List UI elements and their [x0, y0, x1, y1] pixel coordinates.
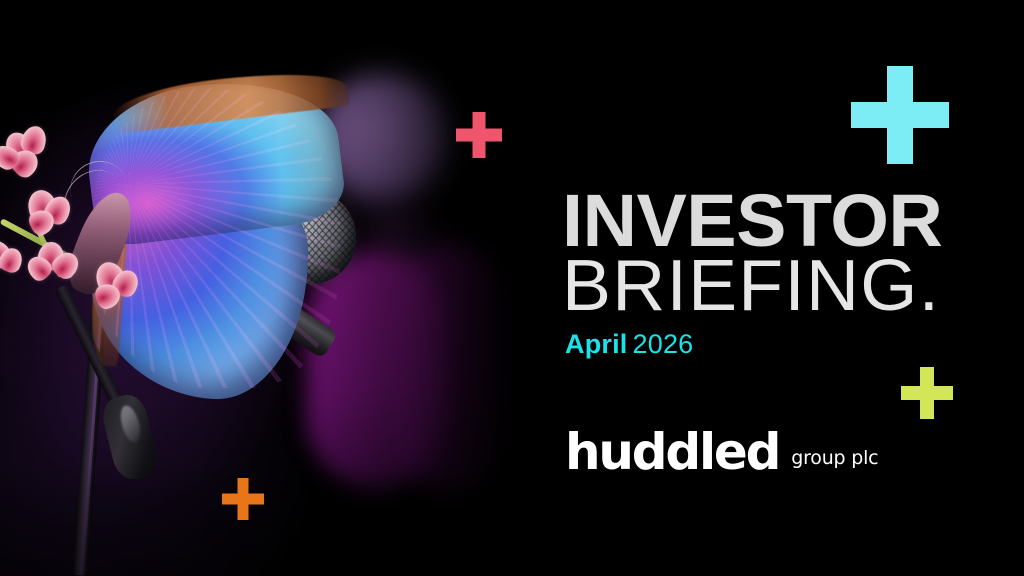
- plus-orange-icon: [222, 478, 264, 520]
- title-slide: INVESTOR BRIEFING. April2026 huddled gro…: [0, 0, 1024, 576]
- text-content: INVESTOR BRIEFING. April2026 huddled gro…: [562, 0, 1024, 576]
- date-year: 2026: [633, 329, 694, 359]
- logo-wordmark: huddled: [565, 427, 779, 477]
- brand-logo: huddled group plc: [565, 427, 878, 477]
- date-subtitle: April2026: [565, 329, 693, 360]
- butterfly: [60, 78, 360, 398]
- page-title-line2: BRIEFING.: [562, 252, 940, 320]
- page-title-line1: INVESTOR: [562, 187, 942, 255]
- plus-pink-icon: [456, 112, 502, 158]
- hero-image: [0, 0, 540, 576]
- logo-suffix: group plc: [791, 447, 878, 469]
- date-month: April: [565, 329, 628, 359]
- butterfly-wing-veins: [94, 88, 340, 388]
